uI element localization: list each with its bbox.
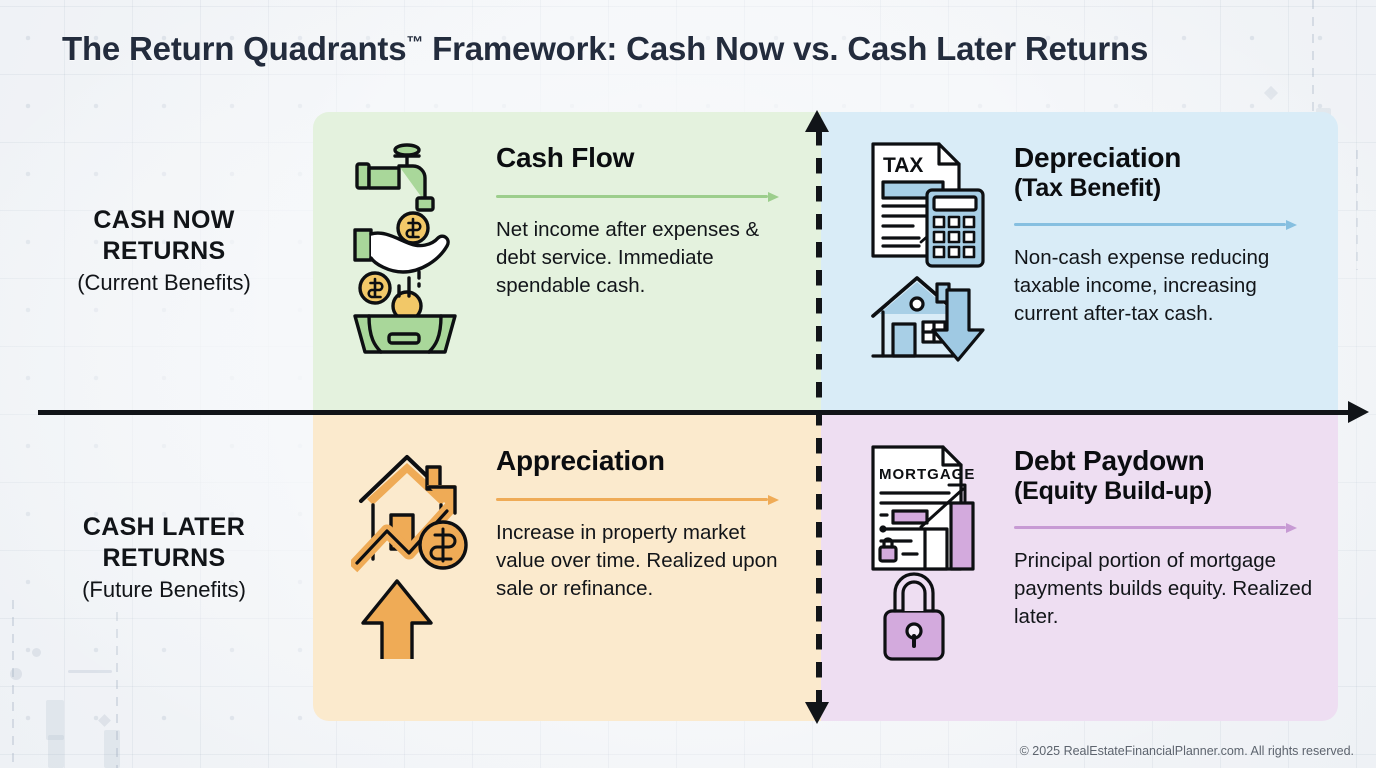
decor-rect [46, 700, 64, 740]
row-label-cash-now: CASH NOW RETURNS (Current Benefits) [14, 205, 314, 298]
row-label-cash-later-line1: CASH LATER [14, 512, 314, 543]
quadrant-debt-paydown[interactable]: MORTGAGE [821, 415, 1338, 721]
appreciation-icon-group [351, 441, 481, 659]
depreciation-icon-group: TAX [869, 138, 999, 364]
faucet-hand-bucket-icon [351, 138, 469, 356]
appreciation-separator-arrow [496, 495, 799, 503]
page-title: The Return Quadrants™ Framework: Cash No… [62, 30, 1148, 68]
decor-diamond [1264, 86, 1278, 100]
page-title-text: The Return Quadrants [62, 30, 406, 67]
tax-document-calculator-house-icon: TAX [869, 138, 991, 364]
depreciation-text-block: Depreciation (Tax Benefit) Non-cash expe… [1014, 142, 1316, 328]
debt-paydown-separator-arrow [1014, 523, 1316, 531]
svg-text:MORTGAGE: MORTGAGE [879, 466, 975, 483]
depreciation-description: Non-cash expense reducing taxable income… [1014, 244, 1316, 328]
depreciation-title-main: Depreciation [1014, 142, 1181, 173]
row-label-cash-later-sub: (Future Benefits) [14, 576, 314, 605]
vertical-axis-arrowhead-up [805, 110, 829, 132]
row-label-cash-later: CASH LATER RETURNS (Future Benefits) [14, 512, 314, 605]
quadrant-cash-flow[interactable]: Cash Flow Net income after expenses & de… [313, 112, 821, 415]
infographic-canvas: The Return Quadrants™ Framework: Cash No… [0, 0, 1376, 768]
decor-dot [10, 668, 22, 680]
appreciation-description: Increase in property market value over t… [496, 519, 799, 603]
cash-flow-title: Cash Flow [496, 142, 799, 174]
debt-paydown-title: Debt Paydown (Equity Build-up) [1014, 445, 1316, 505]
page-title-suffix: Framework: Cash Now vs. Cash Later Retur… [423, 30, 1148, 67]
row-label-cash-now-line1: CASH NOW [14, 205, 314, 236]
decor-line [68, 670, 112, 673]
horizontal-axis-arrowhead [1348, 401, 1369, 423]
row-label-cash-now-sub: (Current Benefits) [14, 269, 314, 298]
debt-paydown-subtitle: (Equity Build-up) [1014, 477, 1316, 506]
debt-paydown-text-block: Debt Paydown (Equity Build-up) Principal… [1014, 445, 1316, 631]
depreciation-title: Depreciation (Tax Benefit) [1014, 142, 1316, 202]
vertical-axis-dashed [816, 130, 822, 715]
decor-dot [32, 648, 41, 657]
cash-flow-separator-arrow [496, 192, 799, 200]
depreciation-separator-arrow [1014, 220, 1316, 228]
decor-dashed-line [1356, 150, 1358, 270]
debt-paydown-title-main: Debt Paydown [1014, 445, 1205, 476]
row-label-cash-now-line2: RETURNS [14, 236, 314, 267]
decor-rect [104, 730, 120, 768]
debt-paydown-description: Principal portion of mortgage payments b… [1014, 547, 1316, 631]
house-growth-arrow-coin-icon [351, 441, 473, 659]
cash-flow-text-block: Cash Flow Net income after expenses & de… [496, 142, 799, 300]
decor-dashed-line [116, 612, 118, 768]
cash-flow-description: Net income after expenses & debt service… [496, 216, 799, 300]
footer-copyright: © 2025 RealEstateFinancialPlanner.com. A… [1020, 744, 1354, 758]
row-label-cash-later-line2: RETURNS [14, 543, 314, 574]
quadrant-depreciation[interactable]: TAX [821, 112, 1338, 415]
decor-dashed-line [12, 600, 14, 768]
decor-diamond [98, 714, 111, 727]
decor-rect [48, 735, 64, 768]
decor-dashed-line [1312, 0, 1314, 120]
horizontal-axis [38, 410, 1356, 415]
appreciation-text-block: Appreciation Increase in property market… [496, 445, 799, 603]
cash-flow-icon-group [351, 138, 481, 356]
debt-paydown-icon-group: MORTGAGE [869, 441, 999, 663]
mortgage-document-barchart-padlock-icon: MORTGAGE [869, 441, 989, 663]
trademark-symbol: ™ [406, 33, 423, 52]
vertical-axis-arrowhead-down [805, 702, 829, 724]
depreciation-subtitle: (Tax Benefit) [1014, 174, 1316, 203]
svg-text:TAX: TAX [883, 154, 923, 177]
quadrant-appreciation[interactable]: Appreciation Increase in property market… [313, 415, 821, 721]
appreciation-title: Appreciation [496, 445, 799, 477]
